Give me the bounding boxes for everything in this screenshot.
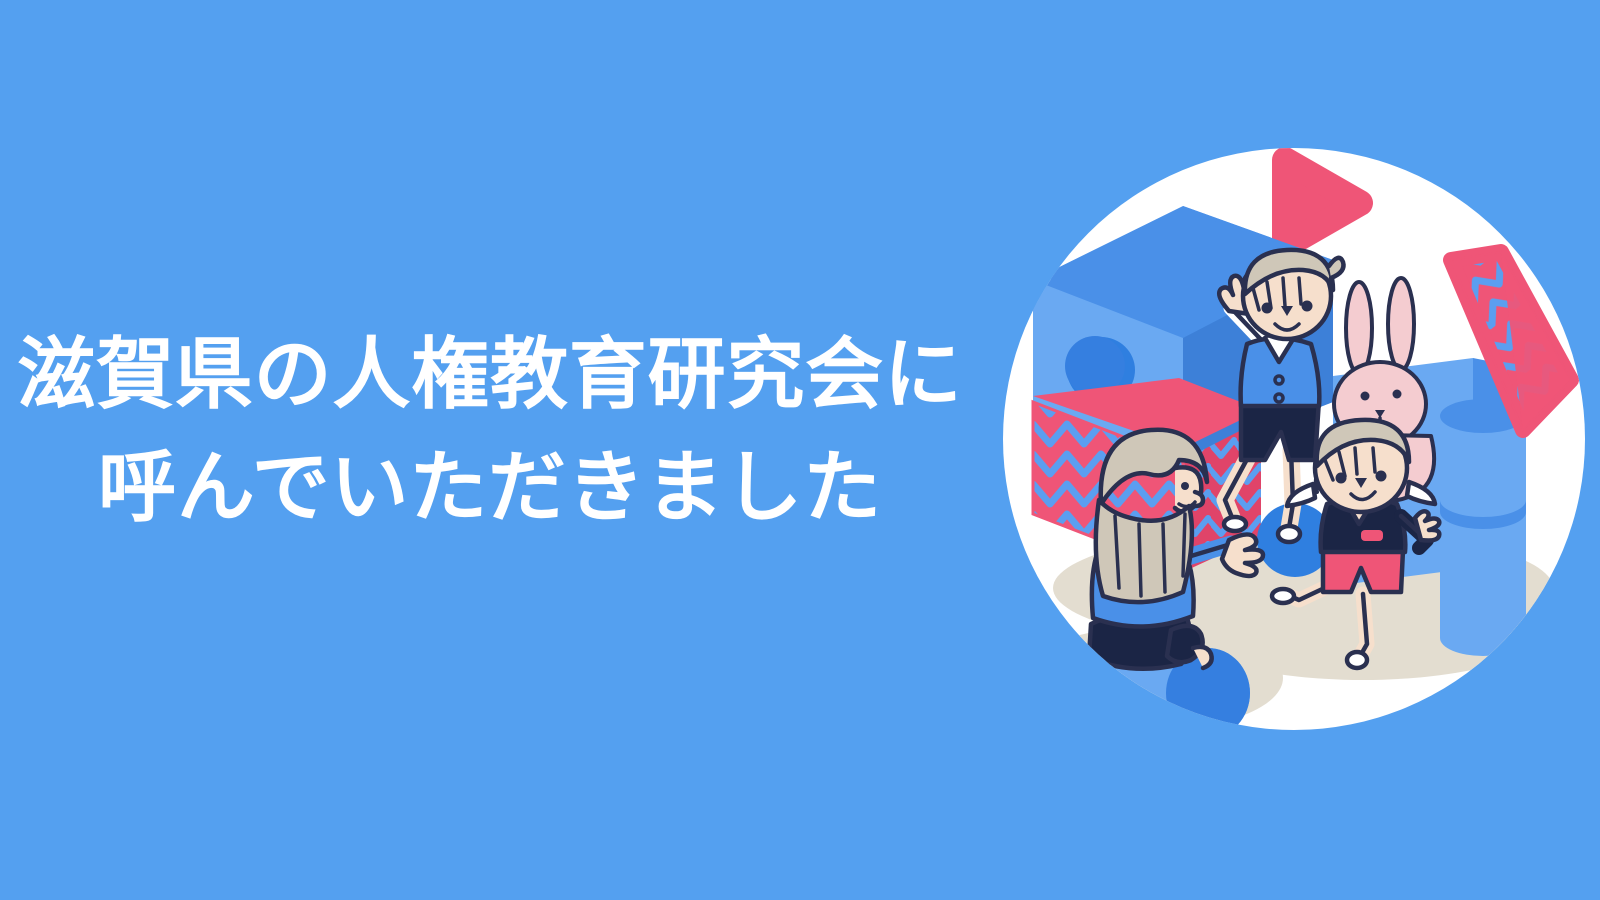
hero-illustration (1003, 148, 1585, 730)
page-title-line-1: 滋賀県の人権教育研究会に (0, 318, 980, 431)
page-title: 滋賀県の人権教育研究会に 呼んでいただきました (0, 318, 980, 544)
blue-cylinder-tall (1440, 399, 1526, 656)
illustration-scene (1003, 148, 1585, 730)
illustration-disc (1003, 148, 1585, 730)
page-title-line-2: 呼んでいただきました (0, 431, 980, 544)
pink-play-flag-icon (1285, 160, 1360, 246)
slide-canvas: 滋賀県の人権教育研究会に 呼んでいただきました (0, 0, 1600, 900)
